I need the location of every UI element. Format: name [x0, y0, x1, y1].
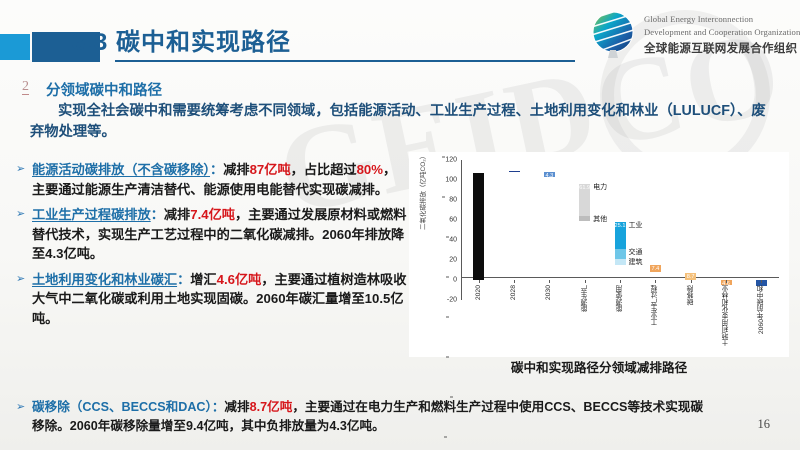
globe-logo-icon — [588, 8, 638, 58]
chart-x-tick-mark — [691, 280, 692, 283]
chart-segment-label: 交通 — [629, 247, 643, 257]
slide-header: 3.3 碳中和实现路径 — [0, 0, 800, 72]
list-item: ➢ 工业生产过程碳排放：减排7.4亿吨，主要通过发展原材料或燃料替代技术，实现生… — [14, 205, 409, 264]
section-intro-paragraph: 实现全社会碳中和需要统筹考虑不同领域，包括能源活动、工业生产过程、土地利用变化和… — [30, 101, 775, 143]
chart-y-tick-mark — [442, 197, 445, 198]
page-title: 3.3 碳中和实现路径 — [72, 22, 291, 57]
chart-y-tick-label: 60 — [449, 217, 457, 224]
chart-x-tick-label: 2030 — [545, 285, 552, 300]
chart-waterfall-emissions: 二氧化碳排放（亿吨CO₂） -200204060801001202020108.… — [409, 152, 789, 357]
chart-x-tick-label: 2028 — [510, 285, 517, 300]
chart-y-axis-label: 二氧化碳排放（亿吨CO₂） — [417, 153, 427, 230]
logo-english-line1: Global Energy Interconnection — [644, 14, 753, 24]
list-item: ➢ 土地利用变化和林业碳汇：增汇4.6亿吨，主要通过植树造林吸收大气中二氧化碳或… — [14, 270, 409, 329]
chart-y-tick-label: 120 — [445, 157, 457, 164]
bullet-highlight: 4.6亿吨 — [217, 272, 262, 287]
chart-x-tick-label: 能源生产 — [581, 285, 591, 312]
header-accent-cyan — [0, 34, 30, 60]
bullet-text: 减排 — [224, 400, 249, 414]
bullet-highlight: 7.4亿吨 — [190, 207, 235, 222]
chart-y-tick-label: 100 — [445, 177, 457, 184]
chart-bar — [473, 173, 484, 280]
chart-title: 碳中和实现路径分领域减排路径 — [409, 357, 789, 376]
bullet-text: ，占比超过 — [291, 162, 357, 177]
chart-segment-label: 建筑 — [629, 257, 643, 267]
chart-segment-label: 工业 — [629, 220, 643, 230]
chart-value-label: 108.8 — [509, 172, 520, 178]
chart-x-tick-mark — [585, 280, 586, 283]
bullet-heading: 工业生产过程碳排放 — [32, 207, 151, 222]
logo-chinese-name: 全球能源互联网发展合作组织 — [644, 40, 797, 56]
bullet-text: 减排 — [223, 162, 249, 177]
chart-y-tick-label: 20 — [449, 257, 457, 264]
bullet-text: 减排 — [164, 207, 190, 222]
logo-english-line2: Development and Cooperation Organization — [644, 27, 800, 37]
bullet-list: ➢ 能源活动碳排放（不含碳移除）：减排87亿吨，占比超过80%，主要通过能源生产… — [14, 160, 409, 334]
bullet-heading: 碳移除（CCS、BECCS和DAC） — [32, 400, 212, 414]
chart-x-tick-label: 2020 — [475, 285, 482, 300]
chart-x-tick-label: 工业生产过程 — [651, 285, 661, 326]
bullet-highlight: 8.7亿吨 — [250, 400, 293, 414]
chart-segment-label: 其他 — [593, 214, 607, 224]
chart-value-label: 61.9 — [579, 185, 590, 191]
arrow-bullet-icon: ➢ — [16, 207, 25, 222]
list-item-carbon-removal: ➢ 碳移除（CCS、BECCS和DAC）：减排8.7亿吨，主要通过在电力生产和燃… — [14, 398, 714, 436]
bullet-colon: ： — [212, 400, 225, 414]
section-title: 分领域碳中和路径 — [46, 79, 162, 100]
chart-x-tick-mark — [514, 280, 515, 283]
chart-y-tick-label: 0 — [453, 277, 457, 284]
chart-y-tick-label: -20 — [447, 297, 457, 304]
bullet-highlight: 80% — [357, 162, 383, 177]
chart-y-tick-mark — [450, 397, 453, 398]
bullet-heading: 土地利用变化和林业碳汇 — [32, 272, 177, 287]
organization-logo: Global Energy Interconnection Developmen… — [588, 6, 798, 64]
page-number: 16 — [758, 417, 771, 432]
arrow-bullet-icon: ➢ — [16, 400, 25, 413]
chart-segment-label: 电力 — [593, 182, 607, 192]
section-number: 2 — [22, 79, 29, 95]
chart-x-tick-mark — [549, 280, 550, 283]
chart-bar — [615, 259, 626, 265]
chart-value-label: 4.3 — [544, 173, 555, 179]
chart-x-tick-label: 能源使用 — [616, 285, 626, 312]
chart-y-tick-mark — [446, 237, 449, 238]
chart-bar — [579, 216, 590, 221]
chart-y-tick-mark — [444, 437, 447, 438]
chart-x-tick-label: 土地利用变化和林业 — [722, 285, 732, 346]
chart-y-tick-label: 80 — [449, 197, 457, 204]
slide: GEIDCO 3.3 碳中和实现路径 — [0, 0, 800, 450]
arrow-bullet-icon: ➢ — [16, 272, 25, 287]
chart-y-tick-mark — [442, 157, 445, 158]
chart-x-tick-label: 2060年前碳中和 — [757, 285, 767, 334]
chart-y-tick-mark — [446, 317, 449, 318]
chart-x-tick-mark — [761, 280, 762, 283]
arrow-bullet-icon: ➢ — [16, 162, 25, 177]
chart-y-tick-label: 40 — [449, 237, 457, 244]
bullet-colon: ： — [210, 162, 223, 177]
chart-plot-area: -200204060801001202020108.820284.32030电力… — [461, 160, 779, 300]
header-underline — [115, 60, 575, 62]
chart-value-label: 25.1 — [615, 223, 626, 229]
list-item: ➢ 能源活动碳排放（不含碳移除）：减排87亿吨，占比超过80%，主要通过能源生产… — [14, 160, 409, 199]
chart-x-tick-mark — [726, 280, 727, 283]
chart-bar — [615, 249, 626, 259]
bullet-highlight: 87亿吨 — [250, 162, 291, 177]
bullet-heading: 能源活动碳排放（不含碳移除） — [32, 162, 210, 177]
bullet-colon: ： — [151, 207, 164, 222]
chart-x-tick-mark — [655, 280, 656, 283]
chart-x-tick-mark — [620, 280, 621, 283]
bullet-colon: ： — [177, 272, 190, 287]
chart-y-tick-mark — [446, 277, 449, 278]
bullet-text: 增汇 — [190, 272, 216, 287]
chart-x-tick-mark — [479, 280, 480, 283]
chart-value-label: 7.4 — [650, 266, 661, 272]
chart-x-tick-label: 碳移除 — [687, 285, 697, 305]
